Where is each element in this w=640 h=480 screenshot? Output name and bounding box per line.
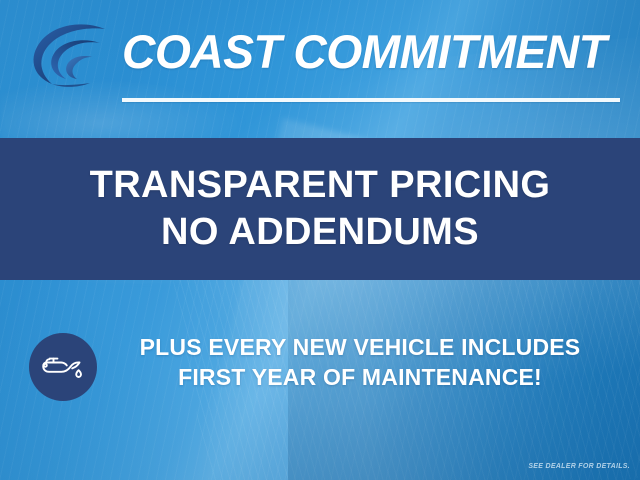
header-divider (122, 98, 620, 102)
headline-line-2: NO ADDENDUMS (161, 209, 479, 256)
header: COAST COMMITMENT (0, 0, 640, 138)
promo-row: PLUS EVERY NEW VEHICLE INCLUDES FIRST YE… (0, 320, 640, 414)
disclaimer-text: SEE DEALER FOR DETAILS. (528, 462, 630, 472)
coast-commitment-ad: COAST COMMITMENT TRANSPARENT PRICING NO … (0, 0, 640, 480)
headline-banner: TRANSPARENT PRICING NO ADDENDUMS (0, 138, 640, 280)
promo-line-2: FIRST YEAR OF MAINTENANCE! (108, 362, 612, 392)
headline-line-1: TRANSPARENT PRICING (90, 162, 551, 209)
page-title: COAST COMMITMENT (122, 23, 619, 81)
promo-icon-badge (29, 333, 97, 401)
promo-text: PLUS EVERY NEW VEHICLE INCLUDES FIRST YE… (108, 332, 612, 392)
coast-wave-logo-icon (22, 18, 116, 90)
promo-line-1: PLUS EVERY NEW VEHICLE INCLUDES (108, 332, 612, 362)
oil-can-icon (41, 350, 85, 385)
